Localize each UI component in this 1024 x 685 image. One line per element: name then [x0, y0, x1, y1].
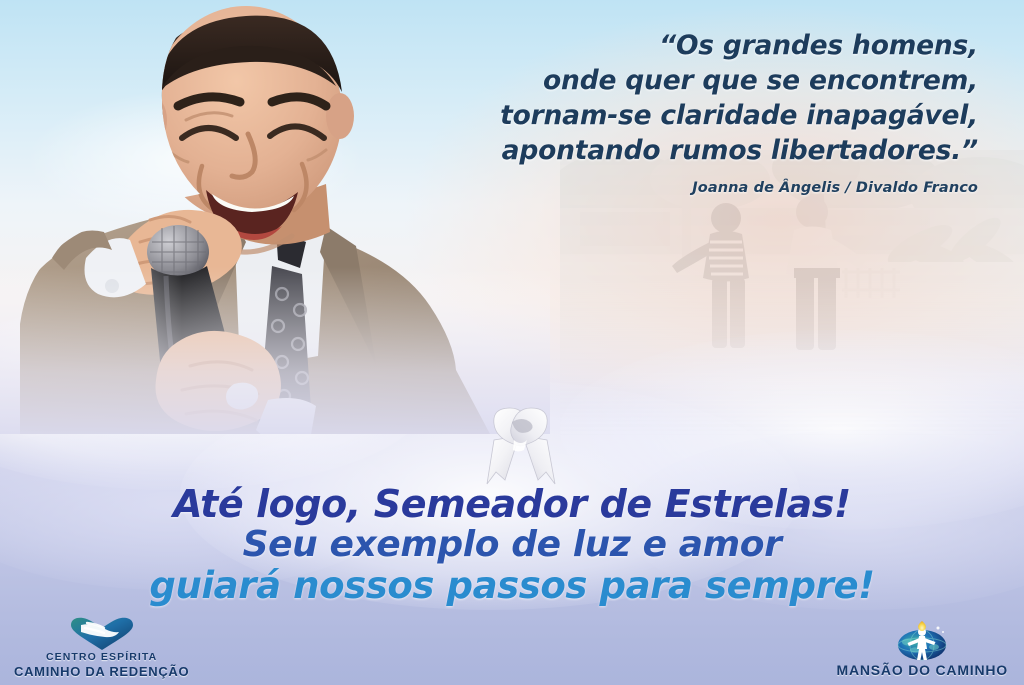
logo-mansao-do-caminho: MANSÃO DO CAMINHO — [837, 620, 1008, 679]
globe-with-figure-and-flame-icon — [891, 620, 953, 662]
headline-line-3: guiará nossos passos para sempre! — [0, 565, 1024, 606]
headline-line-1: Até logo, Semeador de Estrelas! — [0, 484, 1024, 525]
logo-left-line-1: CENTRO ESPÍRITA — [14, 651, 189, 663]
heart-with-hand-icon — [65, 617, 139, 651]
logo-left-line-2: CAMINHO DA REDENÇÃO — [14, 664, 189, 679]
quote-line-3: tornam-se claridade inapagável, — [358, 98, 978, 133]
quote-line-2: onde quer que se encontrem, — [358, 63, 978, 98]
quote-block: “Os grandes homens, onde quer que se enc… — [358, 28, 978, 196]
logo-left-text: CENTRO ESPÍRITA CAMINHO DA REDENÇÃO — [14, 651, 189, 679]
memorial-poster: “Os grandes homens, onde quer que se enc… — [0, 0, 1024, 685]
logo-centro-espirita-caminho-da-redencao: CENTRO ESPÍRITA CAMINHO DA REDENÇÃO — [14, 617, 189, 679]
quote-line-4: apontando rumos libertadores.” — [358, 133, 978, 168]
logo-right-line-1: MANSÃO DO CAMINHO — [837, 662, 1008, 679]
headline-block: Até logo, Semeador de Estrelas! Seu exem… — [0, 484, 1024, 606]
quote-attribution: Joanna de Ângelis / Divaldo Franco — [358, 180, 978, 196]
logo-right-text: MANSÃO DO CAMINHO — [837, 662, 1008, 679]
headline-line-2: Seu exemplo de luz e amor — [0, 525, 1024, 565]
quote-line-1: “Os grandes homens, — [358, 28, 978, 63]
white-mourning-ribbon-icon — [478, 406, 562, 488]
